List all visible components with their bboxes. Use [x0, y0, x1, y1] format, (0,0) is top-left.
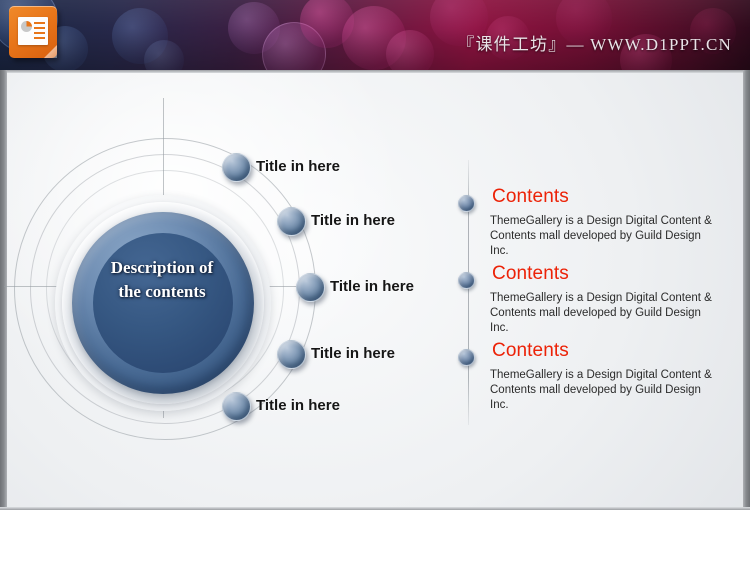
logo-text-line — [34, 22, 45, 24]
contents-bullet-icon — [458, 349, 475, 366]
logo-body — [9, 6, 57, 58]
slide-canvas: 『课件工坊』— WWW.D1PPT.CN Description of the … — [0, 0, 750, 565]
diagram-node-label-1: Title in here — [256, 158, 340, 175]
stage-right-edge — [743, 70, 750, 510]
contents-bullet-icon — [458, 195, 475, 212]
contents-heading-3: Contents — [492, 340, 569, 362]
diagram-node-label-5: Title in here — [256, 397, 340, 414]
diagram-node-3[interactable] — [296, 273, 325, 302]
footer-bar: 课件工坊 HTTP://WWW.D1PPT.CN — [0, 510, 750, 565]
radial-diagram: Description of the contents Title in her… — [0, 70, 420, 510]
diagram-node-5[interactable] — [222, 392, 251, 421]
diagram-node-1[interactable] — [222, 153, 251, 182]
contents-body-1: ThemeGallery is a Design Digital Content… — [490, 214, 716, 259]
diagram-node-label-3: Title in here — [330, 278, 414, 295]
logo-text-line — [34, 37, 45, 39]
contents-heading-2: Contents — [492, 263, 569, 285]
core-description-text: Description of the contents — [62, 256, 262, 304]
site-title: 『课件工坊』— WWW.D1PPT.CN — [457, 30, 732, 55]
core-description-line1: Description of — [62, 256, 262, 280]
logo-text-line — [34, 32, 45, 34]
core-description-line2: the contents — [62, 280, 262, 304]
contents-bullet-icon — [458, 272, 475, 289]
diagram-node-label-2: Title in here — [311, 212, 395, 229]
diagram-node-2[interactable] — [277, 207, 306, 236]
diagram-node-label-4: Title in here — [311, 345, 395, 362]
contents-body-2: ThemeGallery is a Design Digital Content… — [490, 291, 716, 336]
powerpoint-document-icon — [9, 6, 61, 62]
logo-corner-fold — [44, 45, 57, 58]
logo-text-line — [34, 27, 45, 29]
diagram-node-4[interactable] — [277, 340, 306, 369]
contents-heading-1: Contents — [492, 186, 569, 208]
contents-body-3: ThemeGallery is a Design Digital Content… — [490, 368, 716, 413]
header-banner: 『课件工坊』— WWW.D1PPT.CN — [0, 0, 750, 70]
pie-chart-icon — [21, 21, 32, 32]
